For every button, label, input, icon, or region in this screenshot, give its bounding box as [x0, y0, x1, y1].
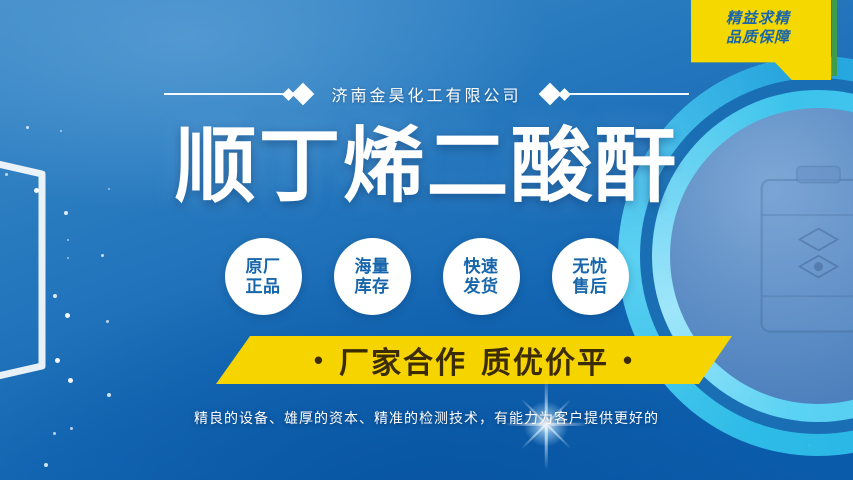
feature-badge: 无忧 售后	[552, 238, 629, 315]
ribbon-text: 精益求精 品质保障	[691, 9, 825, 47]
slogan-banner: • 厂家合作 质优价平 •	[216, 336, 732, 384]
diamond-group-right	[542, 86, 569, 102]
feature-badge-line-1: 快速	[464, 257, 499, 276]
feature-badge: 原厂 正品	[225, 238, 302, 315]
feature-badge-line-1: 海量	[355, 257, 390, 276]
slogan-text-2: 质优价平	[481, 338, 609, 382]
bottom-caption: 精良的设备、雄厚的资本、精准的检测技术，有能力为客户提供更好的	[0, 408, 853, 428]
poster-canvas: 精益求精 品质保障 济南金昊化工有限公司 顺丁烯二酸酐 原厂 正品 海量 库存 …	[0, 0, 853, 480]
feature-badge-line-2: 正品	[246, 277, 281, 296]
ribbon-green-accent	[832, 0, 837, 76]
feature-badge: 海量 库存	[334, 238, 411, 315]
feature-badge-line-2: 库存	[355, 277, 390, 296]
feature-badge-line-1: 无忧	[573, 257, 608, 276]
feature-badge: 快速 发货	[443, 238, 520, 315]
feature-badge-line-2: 售后	[573, 277, 608, 296]
feature-badge-line-1: 原厂	[246, 257, 281, 276]
quality-ribbon-badge: 精益求精 品质保障	[691, 0, 831, 80]
slogan-text-1: 厂家合作	[339, 338, 467, 382]
diamond-group-left	[284, 86, 311, 102]
bullet-right-icon: •	[623, 347, 634, 373]
divider-line-left	[164, 93, 284, 95]
company-header: 济南金昊化工有限公司	[0, 82, 853, 106]
ribbon-line-2: 品质保障	[691, 28, 825, 47]
bullet-left-icon: •	[314, 347, 325, 373]
slogan-text: • 厂家合作 质优价平 •	[314, 338, 634, 382]
divider-line-right	[569, 93, 689, 95]
feature-badge-line-2: 发货	[464, 277, 499, 296]
ribbon-line-1: 精益求精	[691, 9, 825, 28]
product-title: 顺丁烯二酸酐	[0, 126, 853, 208]
feature-badge-list: 原厂 正品 海量 库存 快速 发货 无忧 售后	[0, 238, 853, 315]
company-name: 济南金昊化工有限公司	[311, 82, 541, 106]
